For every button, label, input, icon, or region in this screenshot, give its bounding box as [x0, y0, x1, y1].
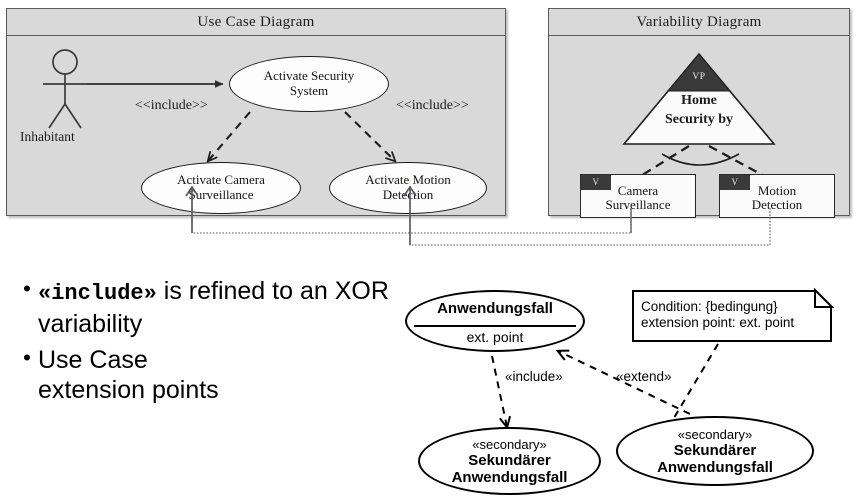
- uc-stereotype: «secondary»: [657, 427, 773, 442]
- uc-line-1: Sekundärer: [452, 452, 568, 469]
- bullet-marker: •: [16, 276, 38, 302]
- extend-edge-label: «extend»: [616, 369, 672, 384]
- bullet-item-extension-points: • Use Case extension points: [16, 345, 416, 405]
- bullet-marker: •: [16, 345, 38, 371]
- bullet-text: «include» is refined to an XOR variabili…: [38, 276, 416, 339]
- uc-stereotype: «secondary»: [452, 437, 568, 452]
- bullet-item-include: • «include» is refined to an XOR variabi…: [16, 276, 416, 339]
- uc-line-2: Anwendungsfall: [452, 469, 568, 486]
- include-edge-label: «include»: [505, 369, 563, 384]
- bullet-list: • «include» is refined to an XOR variabi…: [16, 276, 416, 411]
- uc-line-1: Sekundärer: [657, 442, 773, 459]
- slide-canvas: Use Case Diagram Inhabitant: [0, 0, 866, 503]
- bullet-text: Use Case extension points: [38, 345, 248, 405]
- use-case-sekundaerer-anwendungsfall-left[interactable]: «secondary» Sekundärer Anwendungsfall: [418, 427, 601, 495]
- uc-line-2: Anwendungsfall: [657, 459, 773, 476]
- include-keyword: «include»: [38, 281, 157, 306]
- use-case-sekundaerer-anwendungsfall-right[interactable]: «secondary» Sekundärer Anwendungsfall: [616, 416, 814, 486]
- extension-points-diagram: Anwendungsfall ext. point Condition: {be…: [400, 282, 866, 503]
